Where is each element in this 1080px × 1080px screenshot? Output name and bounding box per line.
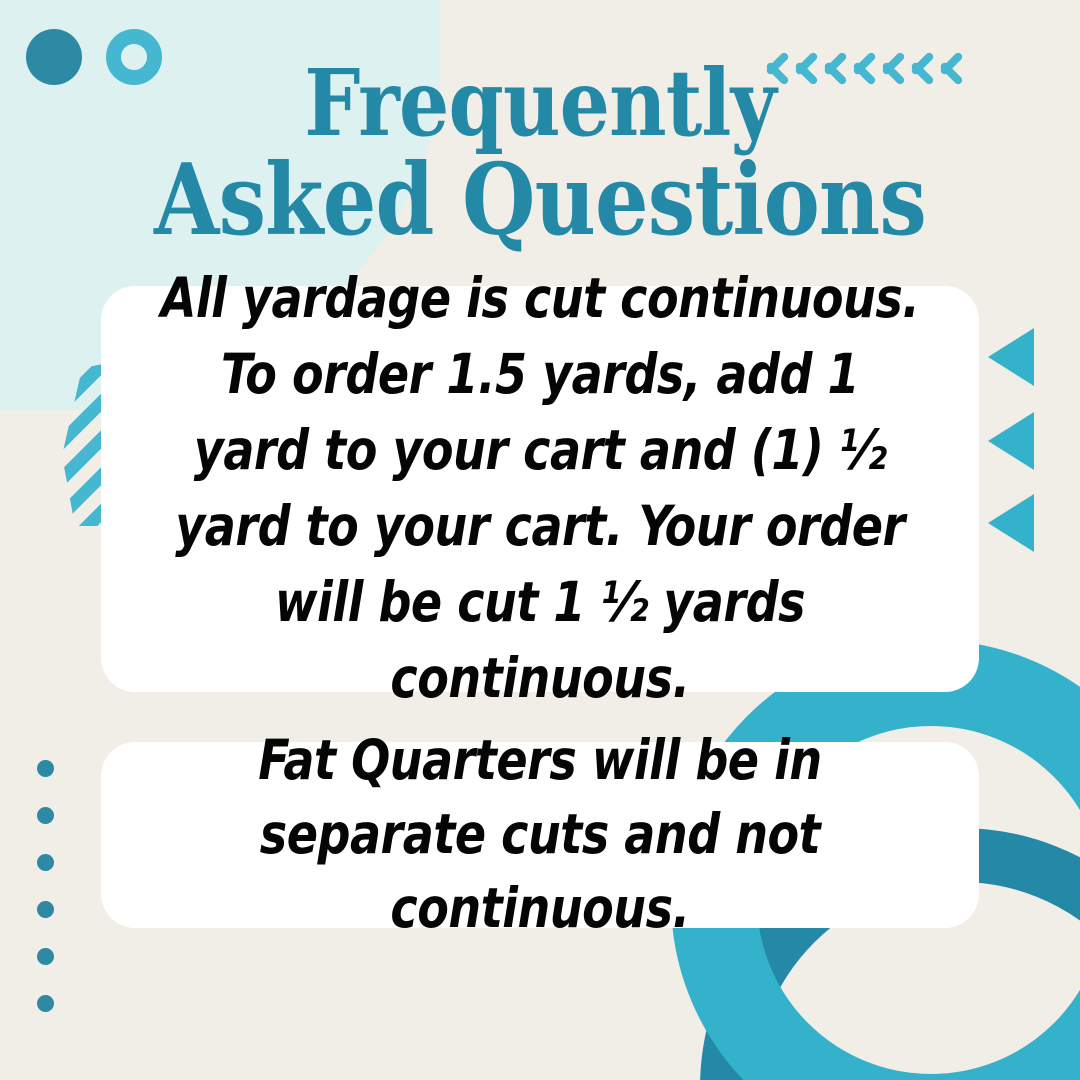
triangle-left-icon [988, 412, 1034, 470]
faq-card-yardage-continuous: All yardage is cut continuous. To order … [101, 286, 979, 692]
dot-icon [37, 948, 54, 965]
triangle-left-icon [988, 494, 1034, 552]
dot-icon [37, 807, 54, 824]
filled-circle-icon [26, 29, 82, 85]
dot-icon [37, 901, 54, 918]
page-title-line-1: Frequently [76, 56, 1005, 151]
dot-icon [37, 995, 54, 1012]
triangle-left-icon [988, 328, 1034, 386]
dot-icon [37, 760, 54, 777]
faq-graphic: Frequently Asked Questions All yardage i… [0, 0, 1080, 1080]
faq-card-fat-quarters: Fat Quarters will be in separate cuts an… [101, 742, 979, 928]
dot-icon [37, 854, 54, 871]
page-title-line-2: Asked Questions [76, 151, 1005, 252]
dot-column [37, 760, 54, 1012]
faq-card-text: Fat Quarters will be in separate cuts an… [156, 724, 924, 945]
faq-card-text: All yardage is cut continuous. To order … [156, 261, 924, 716]
page-title: Frequently Asked Questions [76, 56, 1005, 252]
